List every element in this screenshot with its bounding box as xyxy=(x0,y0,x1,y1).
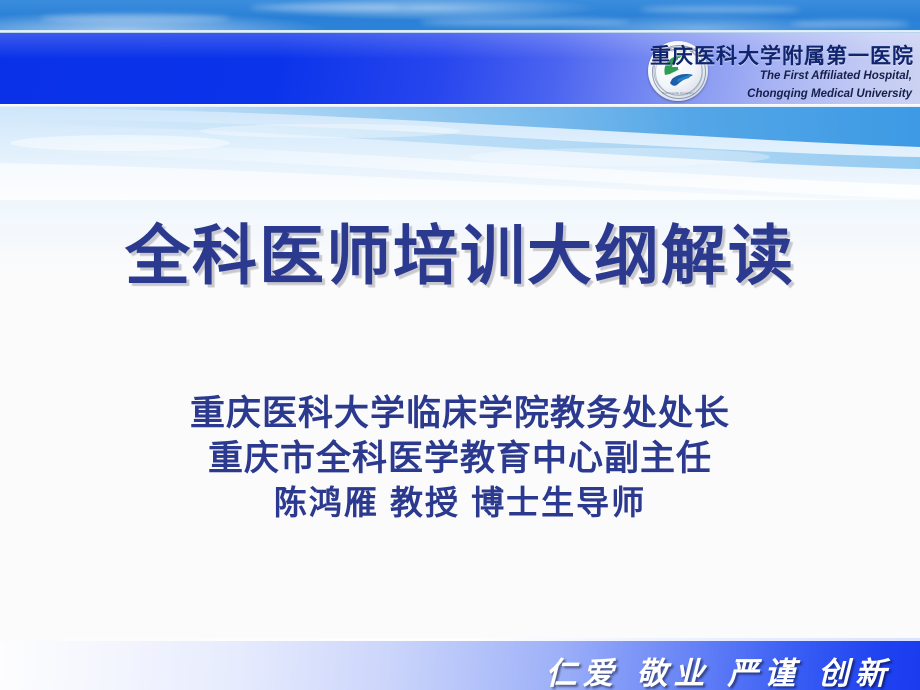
presentation-slide: 重庆医科大学附属第一医院 First Hospital Chongqing 重庆… xyxy=(0,0,920,690)
hospital-name-cn: 重庆医科大学附属第一医院 xyxy=(650,40,914,70)
hospital-name-en-line1: The First Affiliated Hospital, xyxy=(760,70,912,82)
page-title: 全科医师培训大纲解读 xyxy=(0,203,920,297)
subtitle-line-2: 重庆市全科医学教育中心副主任 xyxy=(0,437,920,482)
subtitle-line-3: 陈鸿雁 教授 博士生导师 xyxy=(0,482,920,524)
svg-text:First Hospital Chongqing: First Hospital Chongqing xyxy=(662,91,694,95)
subtitle-line-1: 重庆医科大学临床学院教务处处长 xyxy=(0,392,920,437)
footer-motto: 仁爱 敬业 严谨 创新 xyxy=(546,648,892,690)
sky-strip xyxy=(0,0,920,33)
subtitle-block: 重庆医科大学临床学院教务处处长 重庆市全科医学教育中心副主任 陈鸿雁 教授 博士… xyxy=(0,392,920,524)
hospital-name-en-line2: Chongqing Medical University xyxy=(747,88,912,100)
